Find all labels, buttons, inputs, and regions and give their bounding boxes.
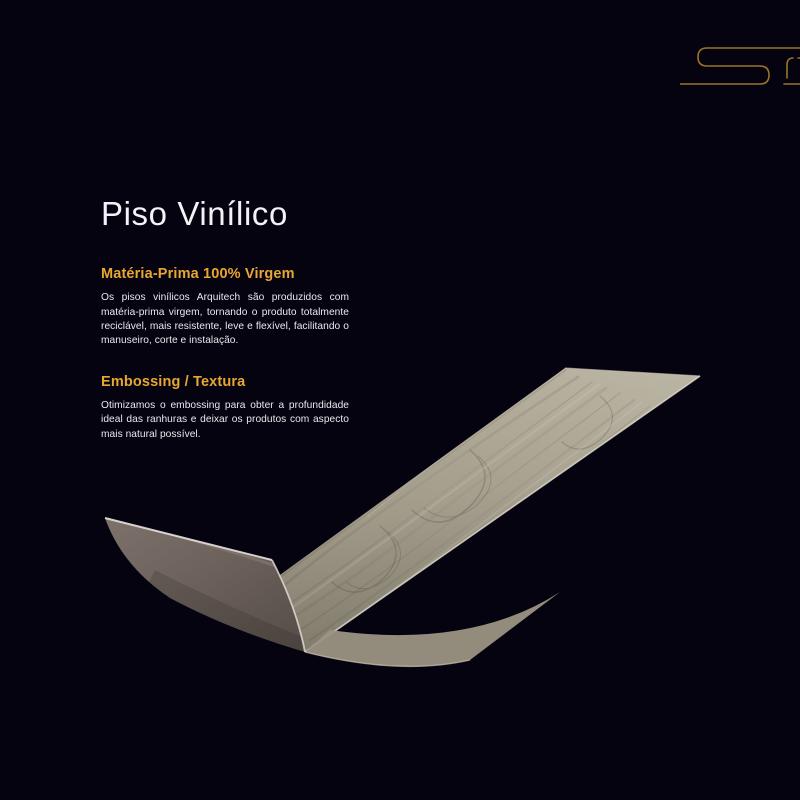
page-title: Piso Vinílico (101, 196, 349, 232)
section-embossing: Embossing / Textura Otimizamos o embossi… (101, 374, 349, 442)
slide-canvas: Piso Vinílico Matéria-Prima 100% Virgem … (0, 0, 800, 800)
section-body-materia-prima: Os pisos vinílicos Arquitech são produzi… (101, 291, 349, 348)
arquitech-logo-mark (680, 20, 800, 115)
section-materia-prima: Matéria-Prima 100% Virgem Os pisos viníl… (101, 266, 349, 348)
section-heading-embossing: Embossing / Textura (101, 374, 349, 390)
plank-underside (105, 516, 305, 652)
section-heading-materia-prima: Matéria-Prima 100% Virgem (101, 266, 349, 282)
text-column: Piso Vinílico Matéria-Prima 100% Virgem … (101, 196, 349, 442)
plank-curved-belly (305, 592, 560, 666)
section-body-embossing: Otimizamos o embossing para obter a prof… (101, 399, 349, 442)
